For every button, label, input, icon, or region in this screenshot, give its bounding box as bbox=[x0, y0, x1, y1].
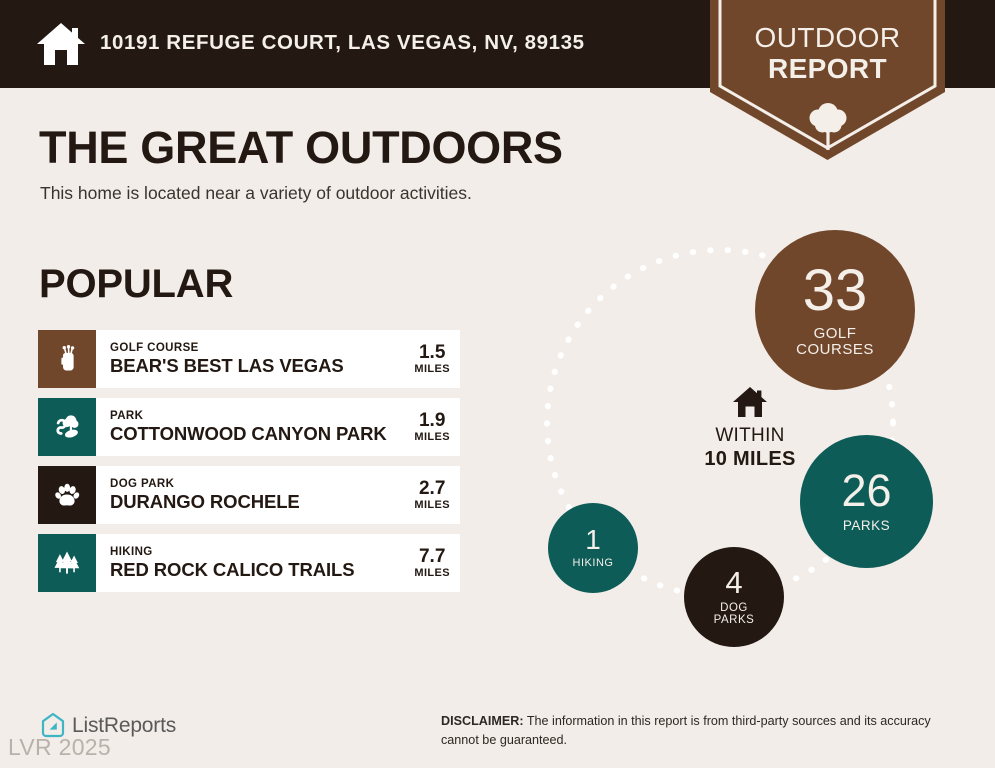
list-item-text: DOG PARK DURANGO ROCHELE bbox=[96, 466, 410, 524]
list-item-distance: 7.7 MILES bbox=[410, 534, 460, 592]
disclaimer: DISCLAIMER: The information in this repo… bbox=[441, 712, 971, 749]
list-item-name: COTTONWOOD CANYON PARK bbox=[110, 423, 410, 444]
stat-value: 33 bbox=[803, 263, 868, 318]
distance-unit: MILES bbox=[414, 431, 450, 443]
badge-title-line1: OUTDOOR bbox=[710, 22, 945, 53]
property-address: 10191 REFUGE COURT, LAS VEGAS, NV, 89135 bbox=[100, 31, 585, 55]
disclaimer-label: DISCLAIMER: bbox=[441, 714, 524, 728]
list-item-category: PARK bbox=[110, 410, 410, 423]
stat-circle-hiking[interactable]: 1 HIKING bbox=[548, 503, 638, 593]
list-item-distance: 1.9 MILES bbox=[410, 398, 460, 456]
stat-label: GOLF COURSES bbox=[796, 326, 874, 358]
watermark: LVR 2025 bbox=[8, 734, 111, 761]
stat-label-line2: COURSES bbox=[796, 342, 874, 358]
list-item-category: GOLF COURSE bbox=[110, 342, 410, 355]
stat-label: DOG PARKS bbox=[714, 602, 755, 626]
list-item[interactable]: GOLF COURSE BEAR'S BEST LAS VEGAS 1.5 MI… bbox=[38, 330, 460, 388]
golf-bag-icon bbox=[38, 330, 96, 388]
list-item-distance: 2.7 MILES bbox=[410, 466, 460, 524]
park-trees-icon bbox=[38, 398, 96, 456]
list-item-category: DOG PARK bbox=[110, 478, 410, 491]
list-item-text: HIKING RED ROCK CALICO TRAILS bbox=[96, 534, 410, 592]
stat-label-line1: DOG bbox=[714, 602, 755, 614]
distance-value: 1.5 bbox=[419, 343, 445, 363]
stat-label: PARKS bbox=[843, 519, 890, 533]
popular-heading: POPULAR bbox=[39, 262, 233, 307]
home-icon bbox=[36, 20, 86, 68]
stat-label: HIKING bbox=[573, 558, 614, 570]
stat-value: 26 bbox=[841, 470, 891, 513]
paw-print-icon bbox=[38, 466, 96, 524]
diagram-center-label: WITHIN 10 MILES bbox=[650, 385, 850, 471]
stat-circle-dog-parks[interactable]: 4 DOG PARKS bbox=[684, 547, 784, 647]
stat-label-line1: GOLF bbox=[796, 326, 874, 342]
list-item-distance: 1.5 MILES bbox=[410, 330, 460, 388]
stat-value: 4 bbox=[725, 568, 742, 597]
stat-circle-golf-courses[interactable]: 33 GOLF COURSES bbox=[755, 230, 915, 390]
center-line2: 10 MILES bbox=[650, 447, 850, 471]
list-item[interactable]: HIKING RED ROCK CALICO TRAILS 7.7 MILES bbox=[38, 534, 460, 592]
distance-value: 1.9 bbox=[419, 411, 445, 431]
outdoor-report-badge: OUTDOOR REPORT bbox=[710, 0, 945, 160]
page-title: THE GREAT OUTDOORS bbox=[39, 122, 563, 174]
center-line1: WITHIN bbox=[650, 425, 850, 447]
list-item-text: PARK COTTONWOOD CANYON PARK bbox=[96, 398, 410, 456]
tree-icon bbox=[808, 100, 848, 152]
distance-unit: MILES bbox=[414, 363, 450, 375]
list-item-name: DURANGO ROCHELE bbox=[110, 491, 410, 512]
distance-unit: MILES bbox=[414, 567, 450, 579]
stat-label-line2: PARKS bbox=[714, 614, 755, 626]
page-subtitle: This home is located near a variety of o… bbox=[40, 183, 472, 204]
list-item-name: BEAR'S BEST LAS VEGAS bbox=[110, 355, 410, 376]
outdoor-report-page: 10191 REFUGE COURT, LAS VEGAS, NV, 89135… bbox=[0, 0, 995, 768]
distance-value: 2.7 bbox=[419, 479, 445, 499]
stat-value: 1 bbox=[585, 527, 601, 554]
list-item-category: HIKING bbox=[110, 546, 410, 559]
badge-title: OUTDOOR REPORT bbox=[710, 22, 945, 85]
distance-value: 7.7 bbox=[419, 547, 445, 567]
badge-title-line2: REPORT bbox=[710, 53, 945, 84]
list-item-text: GOLF COURSE BEAR'S BEST LAS VEGAS bbox=[96, 330, 410, 388]
list-item[interactable]: DOG PARK DURANGO ROCHELE 2.7 MILES bbox=[38, 466, 460, 524]
home-icon bbox=[732, 385, 768, 419]
list-item[interactable]: PARK COTTONWOOD CANYON PARK 1.9 MILES bbox=[38, 398, 460, 456]
list-item-name: RED ROCK CALICO TRAILS bbox=[110, 559, 410, 580]
pine-trees-icon bbox=[38, 534, 96, 592]
distance-unit: MILES bbox=[414, 499, 450, 511]
within-10-miles-diagram: 33 GOLF COURSES 26 PARKS 4 DOG PARKS 1 H… bbox=[520, 225, 980, 665]
popular-list: GOLF COURSE BEAR'S BEST LAS VEGAS 1.5 MI… bbox=[38, 330, 460, 602]
